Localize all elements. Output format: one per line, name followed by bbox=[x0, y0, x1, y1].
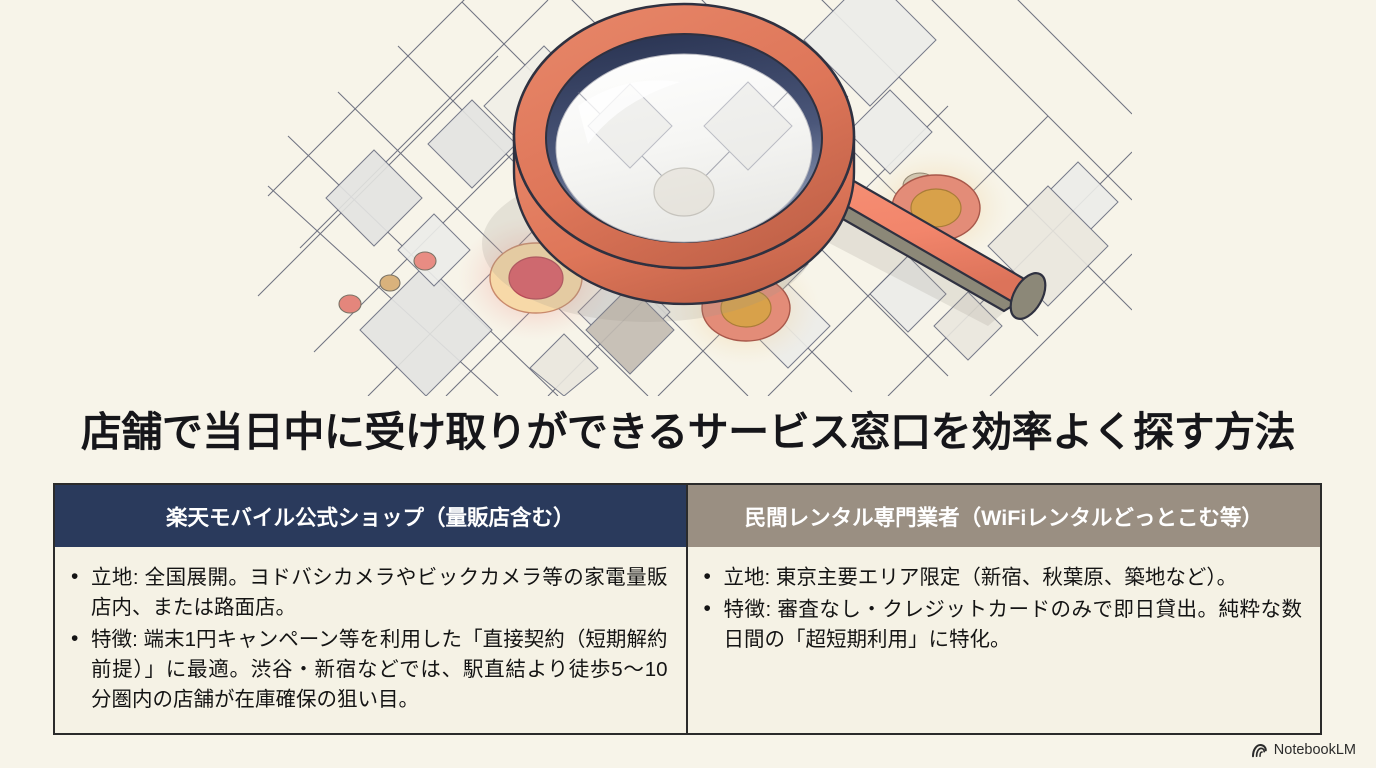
list-item: 特徴: 審査なし・クレジットカードのみで即日貸出。純粋な数日間の「超短期利用」に… bbox=[724, 595, 1303, 655]
list-item: 立地: 東京主要エリア限定（新宿、秋葉原、築地など）。 bbox=[724, 563, 1303, 593]
table-header-private-rental-provider: 民間レンタル専門業者（WiFiレンタルどっとこむ等） bbox=[688, 485, 1321, 547]
list-item: 特徴: 端末1円キャンペーン等を利用した「直接契約（短期解約前提）」に最適。渋谷… bbox=[91, 625, 668, 715]
notebooklm-watermark: NotebookLM bbox=[1251, 742, 1356, 758]
table-header-rakuten-official-shop: 楽天モバイル公式ショップ（量販店含む） bbox=[55, 485, 688, 547]
list-item: 立地: 全国展開。ヨドバシカメラやビックカメラ等の家電量販店内、または路面店。 bbox=[91, 563, 668, 623]
magnifier-lens bbox=[514, 4, 854, 304]
page-title: 店舗で当日中に受け取りができるサービス窓口を効率よく探す方法 bbox=[0, 398, 1376, 458]
comparison-table: 楽天モバイル公式ショップ（量販店含む） 民間レンタル専門業者（WiFiレンタルど… bbox=[53, 483, 1322, 735]
slide-canvas: 店舗で当日中に受け取りができるサービス窓口を効率よく探す方法 楽天モバイル公式シ… bbox=[0, 0, 1376, 768]
notebooklm-label: NotebookLM bbox=[1274, 742, 1356, 758]
table-cell-rakuten-official-shop: 立地: 全国展開。ヨドバシカメラやビックカメラ等の家電量販店内、または路面店。 … bbox=[55, 547, 688, 733]
table-header-row: 楽天モバイル公式ショップ（量販店含む） 民間レンタル専門業者（WiFiレンタルど… bbox=[55, 485, 1320, 547]
table-cell-private-rental-provider: 立地: 東京主要エリア限定（新宿、秋葉原、築地など）。 特徴: 審査なし・クレジ… bbox=[688, 547, 1321, 733]
bullet-list-rakuten: 立地: 全国展開。ヨドバシカメラやビックカメラ等の家電量販店内、または路面店。 … bbox=[65, 563, 668, 715]
table-body-row: 立地: 全国展開。ヨドバシカメラやビックカメラ等の家電量販店内、または路面店。 … bbox=[55, 547, 1320, 733]
bullet-list-private-rental: 立地: 東京主要エリア限定（新宿、秋葉原、築地など）。 特徴: 審査なし・クレジ… bbox=[698, 563, 1303, 655]
hero-illustration bbox=[248, 0, 1132, 396]
notebooklm-spiral-icon bbox=[1251, 743, 1268, 758]
